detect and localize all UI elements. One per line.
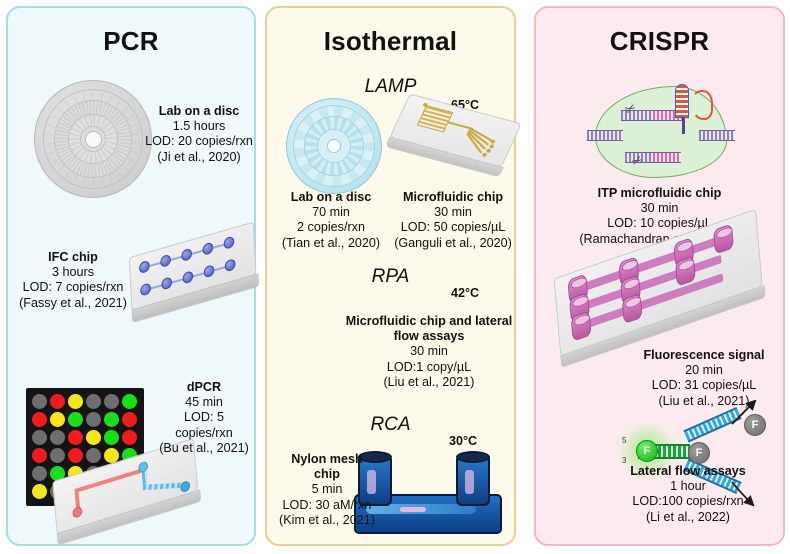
caption-pcr-ifc-chip: IFC chip 3 hours LOD: 7 copies/rxn (Fass… xyxy=(12,250,134,311)
caption-lod-part2: copies/rxn xyxy=(148,426,260,441)
caption-time: 3 hours xyxy=(12,265,134,280)
dpcr-droplet xyxy=(32,430,47,445)
caption-time: 30 min xyxy=(389,205,517,220)
dpcr-droplet xyxy=(50,430,65,445)
dpcr-droplet xyxy=(86,394,101,409)
caption-lod: LOD: 30 aM/rxn xyxy=(271,498,383,513)
caption-time: 45 min xyxy=(148,395,260,410)
dpcr-droplet xyxy=(122,394,137,409)
dpcr-droplet xyxy=(122,430,137,445)
panel-title-isothermal: Isothermal xyxy=(267,26,514,57)
caption-lod: 2 copies/rxn xyxy=(269,220,393,235)
quencher-marker-near: F xyxy=(688,442,710,464)
dpcr-droplet xyxy=(32,394,47,409)
caption-lod: LOD: 50 copies/µL xyxy=(389,220,517,235)
figure-canvas: PCR Lab on a disc 1.5 hours LOD: 20 copi… xyxy=(0,0,790,554)
caption-method: dPCR xyxy=(148,380,260,395)
dpcr-droplet xyxy=(32,412,47,427)
caption-time: 30 min xyxy=(341,344,517,359)
temperature-rca: 30°C xyxy=(449,434,477,448)
fluorophore-marker: F xyxy=(636,440,658,462)
caption-crispr-lateral-flow: Lateral flow assays 1 hour LOD:100 copie… xyxy=(598,464,778,525)
dpcr-droplet xyxy=(68,430,83,445)
caption-method: Lab on a disc xyxy=(140,104,258,119)
dpcr-droplet xyxy=(122,412,137,427)
caption-citation: (Bu et al., 2021) xyxy=(148,441,260,456)
cas-complex-illustration: ✂ ✂ xyxy=(587,80,737,184)
caption-time: 70 min xyxy=(269,205,393,220)
caption-pcr-dpcr: dPCR 45 min LOD: 5 copies/rxn (Bu et al.… xyxy=(148,380,260,456)
caption-method-line2: flow assays xyxy=(341,329,517,344)
lab-on-a-disc-illustration xyxy=(34,80,152,198)
dpcr-droplet xyxy=(32,466,47,481)
caption-method: Lateral flow assays xyxy=(598,464,778,479)
caption-method-line1: Nylon mesh xyxy=(271,452,383,467)
caption-lod: LOD: 31 copies/µL xyxy=(624,378,784,393)
panel-pcr: PCR Lab on a disc 1.5 hours LOD: 20 copi… xyxy=(6,6,256,546)
caption-citation: (Ji et al., 2020) xyxy=(140,150,258,165)
caption-citation: (Li et al., 2022) xyxy=(598,510,778,525)
panel-title-crispr: CRISPR xyxy=(536,26,783,57)
dpcr-droplet xyxy=(104,430,119,445)
caption-iso-microfluidic-chip: Microfluidic chip 30 min LOD: 50 copies/… xyxy=(389,190,517,251)
caption-time: 1 hour xyxy=(598,479,778,494)
dpcr-droplet xyxy=(68,412,83,427)
dpcr-droplet xyxy=(50,394,65,409)
dpcr-droplet xyxy=(50,448,65,463)
caption-lod: LOD: 20 copies/rxn xyxy=(140,134,258,149)
quencher-marker-far: F xyxy=(744,414,766,436)
caption-iso-nylon-mesh-chip: Nylon mesh chip 5 min LOD: 30 aM/rxn (Ki… xyxy=(271,452,383,528)
caption-time: 20 min xyxy=(624,363,784,378)
caption-method: IFC chip xyxy=(12,250,134,265)
caption-method: ITP microfluidic chip xyxy=(536,186,783,201)
dpcr-droplet xyxy=(68,394,83,409)
caption-method-line1: Microfluidic chip and lateral xyxy=(341,314,517,329)
panel-title-pcr: PCR xyxy=(8,26,254,57)
dpcr-droplet xyxy=(32,448,47,463)
caption-iso-microfluidic-lateral-flow: Microfluidic chip and lateral flow assay… xyxy=(341,314,517,390)
dpcr-droplet xyxy=(86,430,101,445)
dpcr-droplet xyxy=(86,412,101,427)
caption-lod: LOD:100 copies/rxn xyxy=(598,494,778,509)
caption-citation: (Liu et al., 2021) xyxy=(341,375,517,390)
section-label-rpa: RPA xyxy=(267,266,514,288)
dpcr-droplet xyxy=(68,448,83,463)
caption-pcr-lab-on-a-disc: Lab on a disc 1.5 hours LOD: 20 copies/r… xyxy=(140,104,258,165)
caption-lod: LOD:1 copy/µL xyxy=(341,360,517,375)
caption-time: 1.5 hours xyxy=(140,119,258,134)
caption-time: 5 min xyxy=(271,482,383,497)
dpcr-droplet xyxy=(104,412,119,427)
panel-crispr: CRISPR ✂ ✂ ITP microfluidic chip 30 min … xyxy=(534,6,785,546)
ifc-chip-illustration xyxy=(128,215,259,331)
lamp-microfluidic-chip-illustration xyxy=(376,88,529,198)
dpcr-droplet xyxy=(50,412,65,427)
caption-method-line2: chip xyxy=(271,467,383,482)
panel-isothermal: Isothermal LAMP 65°C Lab on a dis xyxy=(265,6,516,546)
caption-citation: (Tian et al., 2020) xyxy=(269,236,393,251)
caption-method: Fluorescence signal xyxy=(624,348,784,363)
section-label-lamp: LAMP xyxy=(267,76,514,98)
caption-citation: (Kim et al., 2021) xyxy=(271,513,383,528)
caption-iso-lab-on-a-disc: Lab on a disc 70 min 2 copies/rxn (Tian … xyxy=(269,190,393,251)
section-label-rca: RCA xyxy=(267,414,514,436)
caption-method: Lab on a disc xyxy=(269,190,393,205)
dpcr-droplet xyxy=(104,394,119,409)
caption-lod: LOD: 7 copies/rxn xyxy=(12,280,134,295)
caption-citation: (Fassy et al., 2021) xyxy=(12,296,134,311)
label-five-prime: 5 xyxy=(622,436,626,445)
caption-lod-part1: LOD: 5 xyxy=(148,410,260,425)
caption-method: Microfluidic chip xyxy=(389,190,517,205)
iso-lab-on-a-disc-illustration xyxy=(286,98,382,194)
dpcr-droplet xyxy=(32,484,47,499)
temperature-rpa: 42°C xyxy=(451,286,479,300)
caption-citation: (Ganguli et al., 2020) xyxy=(389,236,517,251)
